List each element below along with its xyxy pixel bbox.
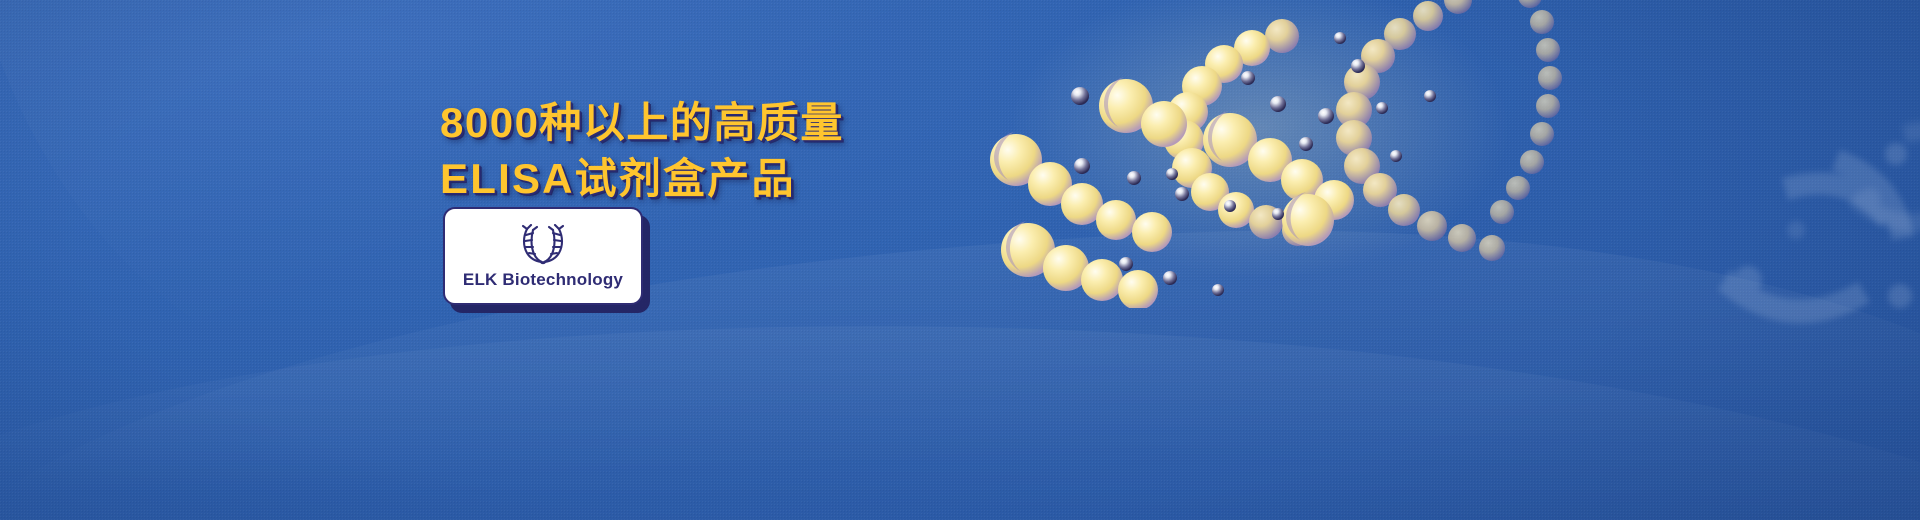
dna-antler-icon: [514, 224, 572, 268]
logo-card-face[interactable]: ELK Biotechnology: [443, 207, 643, 305]
headline-block: 8000种以上的高质量 ELISA试剂盒产品: [440, 95, 1000, 207]
elisa-promo-banner: 8000种以上的高质量 ELISA试剂盒产品: [0, 0, 1920, 520]
headline-line-2: ELISA试剂盒产品: [440, 151, 1000, 207]
brand-logo-card[interactable]: ELK Biotechnology: [443, 207, 643, 305]
logo-wordmark: ELK Biotechnology: [463, 270, 623, 290]
banner-background: [0, 0, 1920, 520]
headline-line-1: 8000种以上的高质量: [440, 95, 1000, 151]
